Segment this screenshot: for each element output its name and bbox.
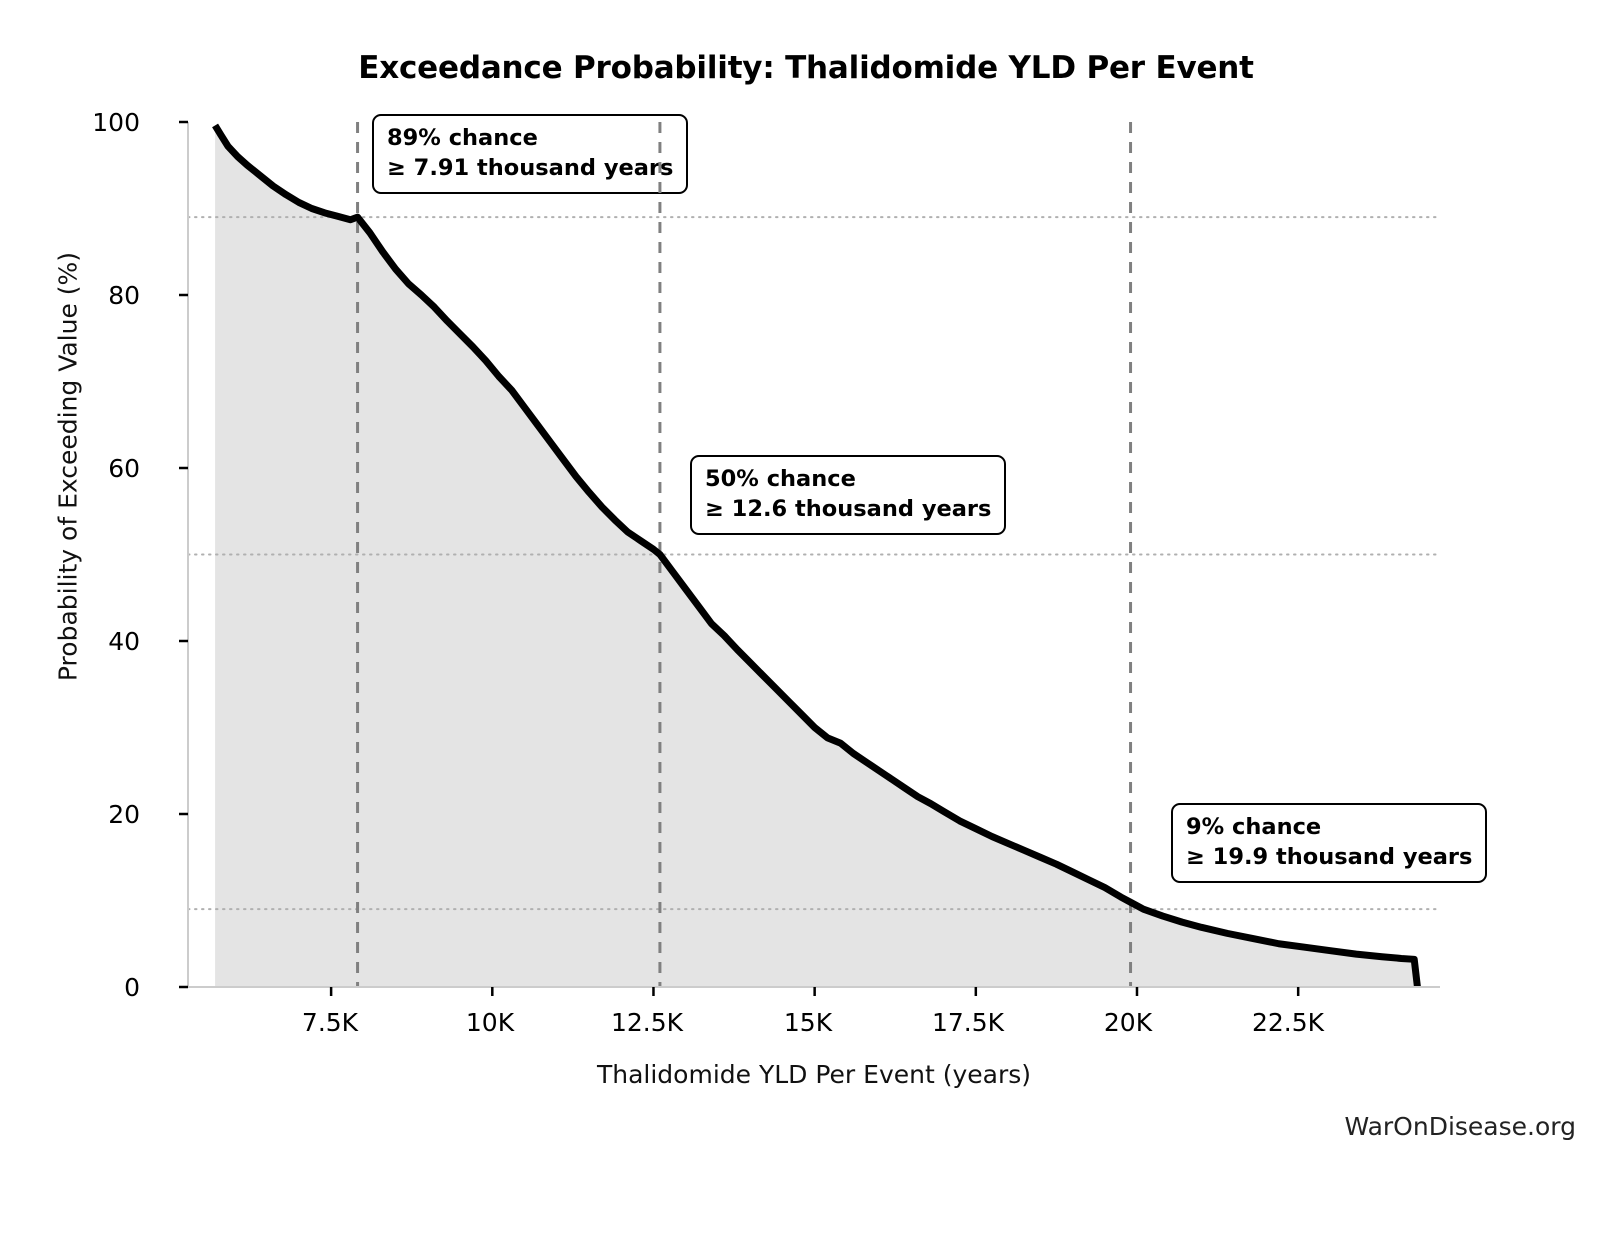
plot-canvas xyxy=(0,0,1612,1234)
exceedance-area-fill xyxy=(215,125,1417,987)
chart-figure: Exceedance Probability: Thalidomide YLD … xyxy=(0,0,1612,1234)
